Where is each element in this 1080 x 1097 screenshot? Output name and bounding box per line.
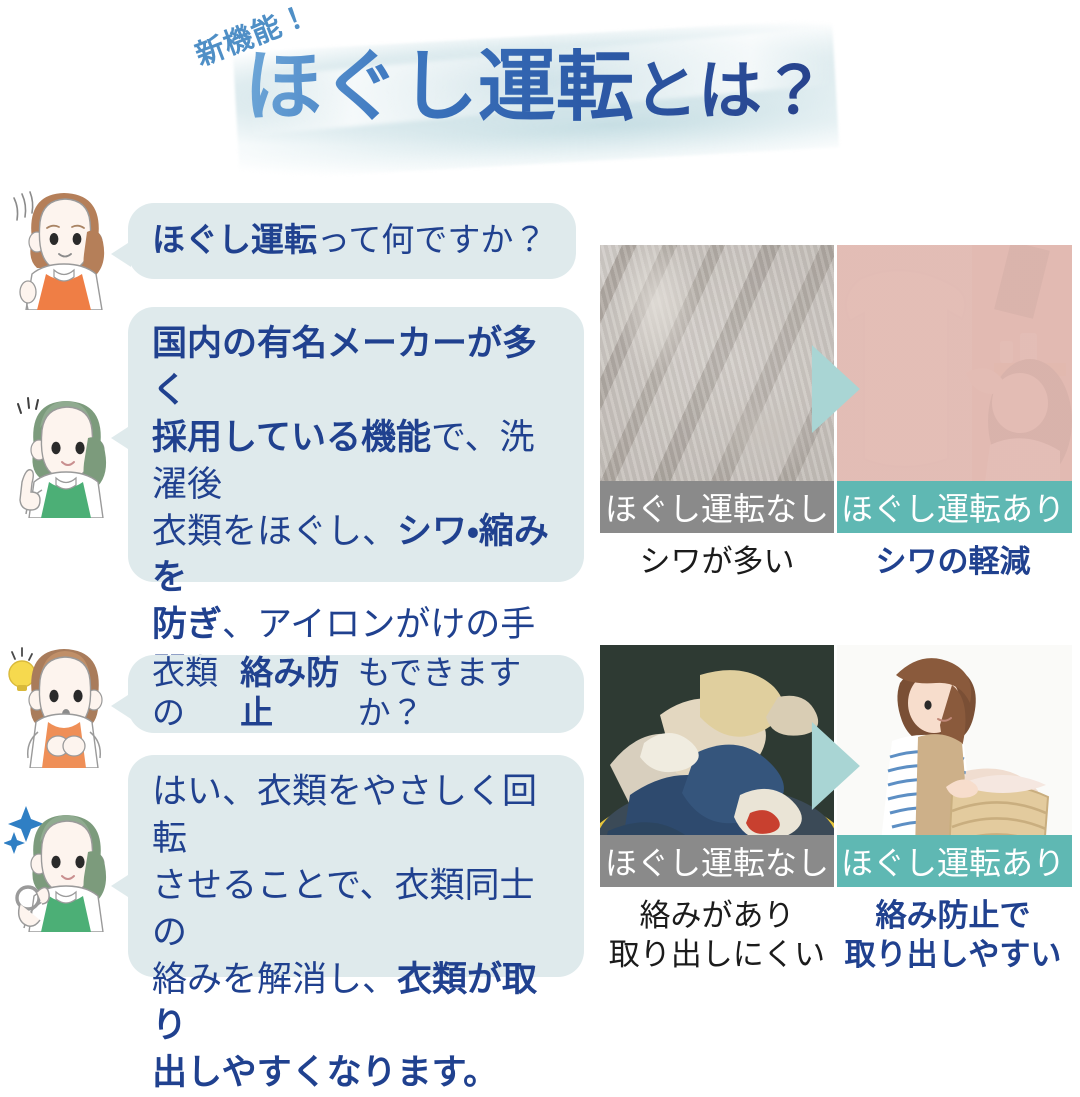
qa-row-question-2: 衣類の絡み防止もできますか？ [128,655,584,733]
wrinkle-comparison: ほぐし運転なし [600,245,1072,582]
a1-l3-s1: 衣類をほぐし、 [152,512,397,552]
page-title: ほぐし運転とは？ [244,48,826,126]
tangle-comparison: ほぐし運転なし [600,645,1072,975]
q2-segment-3: もできますか？ [358,653,562,734]
a1-line-2: 採用している機能で、洗濯後 [152,415,562,509]
band-label-yes-2: ほぐし運転あり [834,835,1072,887]
caption-no-2-line-2: 取り出しにくい [600,936,834,975]
speech-bubble-question-2: 衣類の絡み防止もできますか？ [128,655,584,733]
avatar-woman-brown-worried-icon [2,170,126,310]
qa-row-answer-2: はい、衣類をやさしく回転 させることで、衣類同士の 絡みを解消し、衣類が取り 出… [128,755,584,977]
avatar-woman-brown-idea [2,628,126,768]
a2-line-4: 出しやすくなります。 [152,1050,562,1097]
qa-row-answer-1: 国内の有名メーカーが多く 採用している機能で、洗濯後 衣類をほぐし、シワ・縮みを… [128,307,584,582]
pane-with-feature-tangle: ほぐし運転あり [834,645,1072,887]
avatar-woman-green-ok-icon [4,792,128,932]
page-title-main: ほぐし運転 [244,42,634,132]
comparison-arrow-2-icon [812,722,860,810]
a2-l1-s1: はい、衣類をやさしく回転 [152,772,537,859]
page-title-suffix: とは？ [634,55,826,129]
a1-l2-s1: 採用している機能 [152,418,431,458]
a2-line-3: 絡みを解消し、衣類が取り [152,957,562,1051]
caption-no-1: シワが多い [600,543,834,582]
caption-no-2-line-1: 絡みがあり [600,897,834,936]
a1-line-1: 国内の有名メーカーが多く [152,321,562,415]
q2-segment-2: 絡み防止 [240,653,357,734]
avatar-woman-green-pointing [4,378,128,518]
a1-line-3: 衣類をほぐし、シワ・縮みを [152,509,562,603]
speech-bubble-answer-2: はい、衣類をやさしく回転 させることで、衣類同士の 絡みを解消し、衣類が取り 出… [128,755,584,977]
a2-l4-s1: 出しやすくなります。 [152,1053,498,1093]
a2-line-1: はい、衣類をやさしく回転 [152,769,562,863]
q1-segment-plain: って何ですか？ [317,220,546,260]
a2-l2-s1: させることで、衣類同士の [152,866,535,953]
caption-yes-2: 絡み防止で 取り出しやすい [834,897,1072,975]
avatar-woman-brown-idea-icon [2,628,126,768]
q2-segment-1: 衣類の [152,653,240,734]
title-zone: 新機能！ ほぐし運転とは？ [0,0,1080,175]
speech-bubble-question-1: ほぐし運転って何ですか？ [128,203,576,279]
wrinkle-comparison-captions: シワが多い シワの軽減 [600,543,1072,582]
band-label-yes-1: ほぐし運転あり [834,481,1072,533]
tangle-comparison-panes: ほぐし運転なし [600,645,1072,887]
band-label-no-1: ほぐし運転なし [600,481,834,533]
caption-no-2: 絡みがあり 取り出しにくい [600,897,834,975]
pane-with-feature-wrinkle: ほぐし運転あり [834,245,1072,533]
tangle-comparison-captions: 絡みがあり 取り出しにくい 絡み防止で 取り出しやすい [600,897,1072,975]
a2-l3-s1: 絡みを解消し、 [152,960,397,1000]
caption-yes-2-line-1: 絡み防止で [834,897,1072,936]
avatar-woman-green-ok [4,792,128,932]
speech-bubble-answer-1: 国内の有名メーカーが多く 採用している機能で、洗濯後 衣類をほぐし、シワ・縮みを… [128,307,584,582]
band-label-no-2: ほぐし運転なし [600,835,834,887]
wrinkle-comparison-panes: ほぐし運転なし [600,245,1072,533]
a1-l1-s1: 国内の有名メーカーが多く [152,324,537,411]
caption-yes-1: シワの軽減 [834,543,1072,582]
comparison-arrow-1-icon [812,345,860,433]
avatar-woman-green-pointing-icon [4,378,128,518]
avatar-woman-brown-worried [2,170,126,310]
qa-row-question-1: ほぐし運転って何ですか？ [128,203,576,279]
a1-l4-s1: 防ぎ [152,605,222,645]
a2-line-2: させることで、衣類同士の [152,863,562,957]
infographic-page: 新機能！ ほぐし運転とは？ ほぐし運転って何です [0,0,1080,1062]
caption-yes-2-line-2: 取り出しやすい [834,936,1072,975]
q1-segment-bold: ほぐし運転 [152,220,317,260]
pane-without-feature-tangle: ほぐし運転なし [600,645,834,887]
pane-without-feature-wrinkle: ほぐし運転なし [600,245,834,533]
